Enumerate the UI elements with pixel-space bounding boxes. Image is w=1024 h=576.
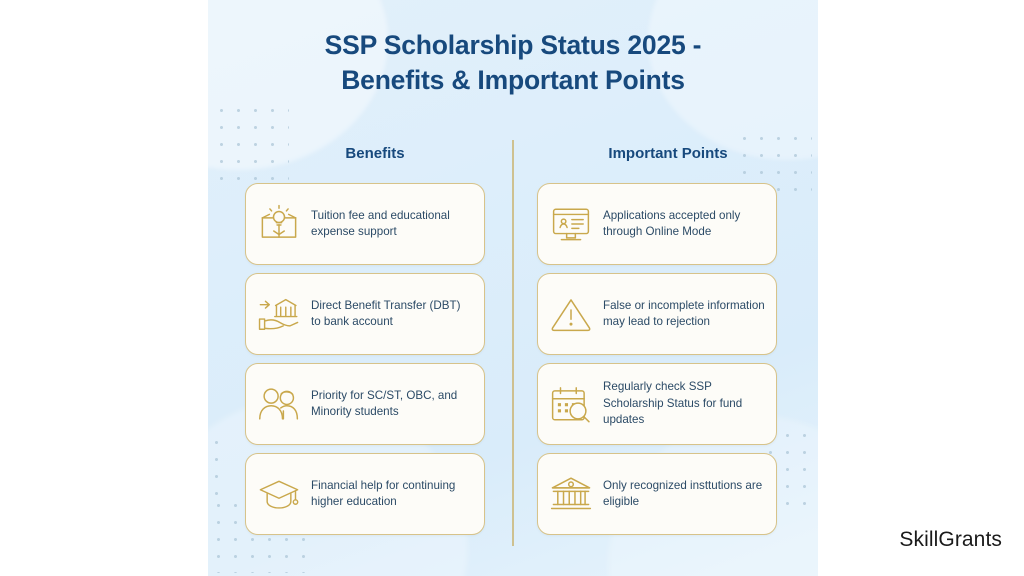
benefits-card-list: Tuition fee and educational expense supp… — [245, 183, 485, 535]
point-card-text: False or incomplete information may lead… — [603, 298, 765, 331]
bank-building-icon — [548, 471, 594, 517]
column-heading-important-points: Important Points — [538, 145, 798, 162]
column-divider — [512, 140, 514, 546]
point-card-text: Regularly check SSP Scholarship Status f… — [603, 379, 765, 428]
column-heading-benefits: Benefits — [245, 145, 505, 162]
graduation-cap-icon — [256, 471, 302, 517]
benefit-card-priority-reservation[interactable]: Priority for SC/ST, OBC, and Minority st… — [245, 363, 485, 445]
benefit-card-higher-education[interactable]: Financial help for continuing higher edu… — [245, 453, 485, 535]
benefit-card-tuition-fee[interactable]: Tuition fee and educational expense supp… — [245, 183, 485, 265]
benefit-card-text: Priority for SC/ST, OBC, and Minority st… — [311, 388, 473, 421]
two-people-icon — [256, 381, 302, 427]
infographic-canvas: SSP Scholarship Status 2025 - Benefits &… — [0, 0, 1024, 576]
point-card-check-status[interactable]: Regularly check SSP Scholarship Status f… — [537, 363, 777, 445]
brand-logo: SkillGrants — [899, 528, 1002, 552]
benefit-card-text: Direct Benefit Transfer (DBT) to bank ac… — [311, 298, 473, 331]
point-card-false-information[interactable]: False or incomplete information may lead… — [537, 273, 777, 355]
decorative-dot-grid-left-edge — [208, 432, 226, 502]
benefit-card-text: Financial help for continuing higher edu… — [311, 478, 473, 511]
page-title: SSP Scholarship Status 2025 - Benefits &… — [208, 28, 818, 98]
hand-bank-transfer-icon — [256, 291, 302, 337]
monitor-form-icon — [548, 201, 594, 247]
point-card-text: Applications accepted only through Onlin… — [603, 208, 765, 241]
calendar-search-icon — [548, 381, 594, 427]
book-lightbulb-icon — [256, 201, 302, 247]
page-title-line-2: Benefits & Important Points — [208, 63, 818, 98]
benefit-card-text: Tuition fee and educational expense supp… — [311, 208, 473, 241]
decorative-dot-grid-top-left — [211, 100, 289, 180]
warning-triangle-icon — [548, 291, 594, 337]
point-card-online-mode[interactable]: Applications accepted only through Onlin… — [537, 183, 777, 265]
point-card-recognized-institutions[interactable]: Only recognized insttutions are eligible — [537, 453, 777, 535]
important-points-card-list: Applications accepted only through Onlin… — [537, 183, 777, 535]
infographic-panel: SSP Scholarship Status 2025 - Benefits &… — [208, 0, 818, 576]
page-title-line-1: SSP Scholarship Status 2025 - — [208, 28, 818, 63]
benefit-card-direct-benefit-transfer[interactable]: Direct Benefit Transfer (DBT) to bank ac… — [245, 273, 485, 355]
point-card-text: Only recognized insttutions are eligible — [603, 478, 765, 511]
